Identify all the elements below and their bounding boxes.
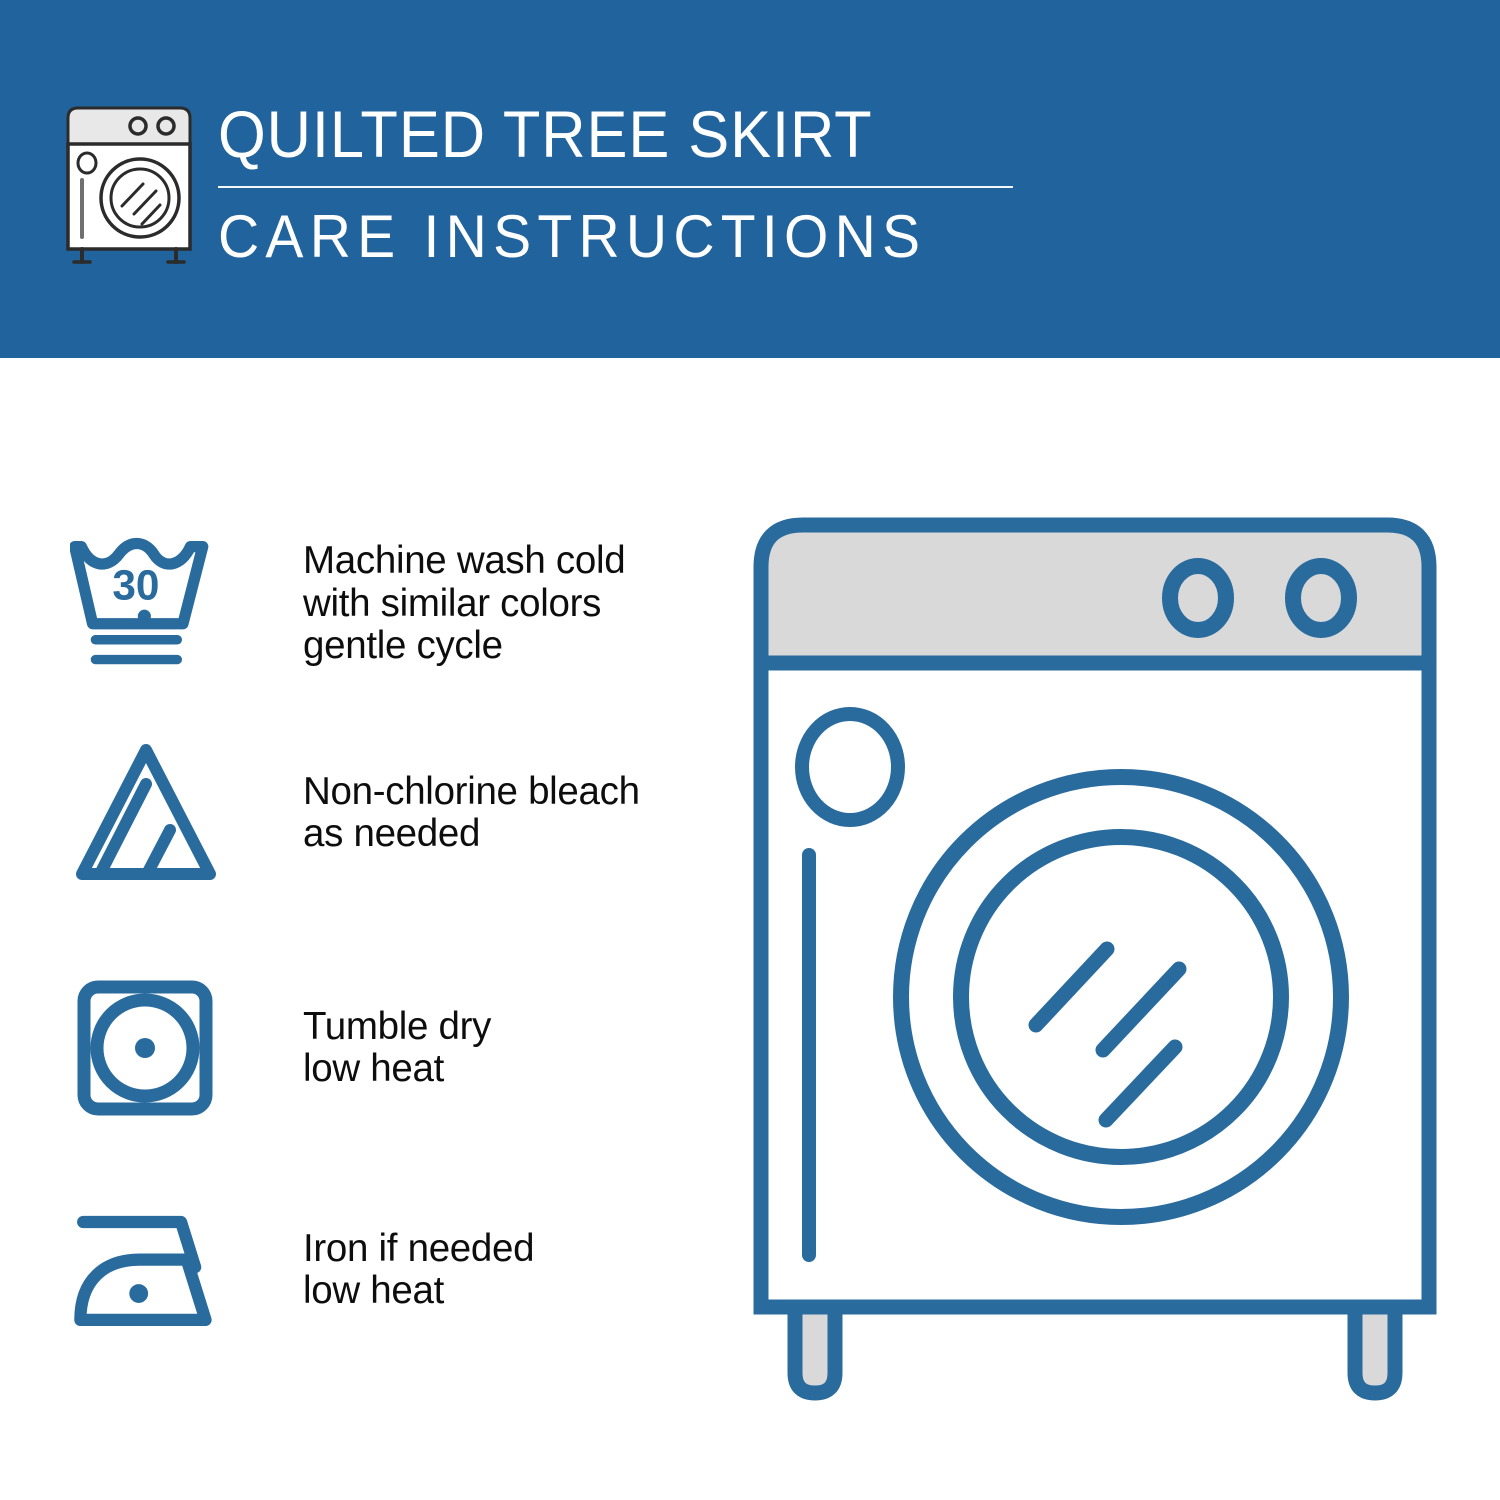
knob-left <box>1170 566 1226 630</box>
care-symbol-text-dry: Tumble dry low heat <box>303 1006 491 1091</box>
title-block: QUILTED TREE SKIRT CARE INSTRUCTIONS <box>218 96 1288 270</box>
care-symbol-text-iron: Iron if needed low heat <box>303 1228 534 1313</box>
care-instructions-page: QUILTED TREE SKIRT CARE INSTRUCTIONS 30 <box>0 0 1500 1500</box>
care-symbol-row-wash: 30 Machine wash cold with similar colors… <box>70 524 720 684</box>
detergent-indicator-oval <box>802 714 898 820</box>
page-title: QUILTED TREE SKIRT <box>218 96 1213 172</box>
care-symbol-row-bleach: Non-chlorine bleach as needed <box>70 733 720 893</box>
care-symbol-text-wash: Machine wash cold with similar colors ge… <box>303 540 625 668</box>
care-text-line: as needed <box>303 813 640 856</box>
front-load-washing-machine-illustration <box>735 495 1455 1425</box>
care-text-line: gentle cycle <box>303 625 625 668</box>
header-banner: QUILTED TREE SKIRT CARE INSTRUCTIONS <box>0 0 1500 358</box>
care-text-line: low heat <box>303 1270 534 1313</box>
foot-left <box>795 1307 835 1393</box>
care-text-line: Non-chlorine bleach <box>303 771 640 814</box>
care-text-line: low heat <box>303 1048 491 1091</box>
wash-tub-30-gentle-icon: 30 <box>70 524 230 684</box>
title-divider <box>218 186 1013 188</box>
care-symbol-text-bleach: Non-chlorine bleach as needed <box>303 771 640 856</box>
care-symbol-row-dry: Tumble dry low heat <box>70 968 720 1128</box>
triangle-non-chlorine-bleach-icon <box>70 733 230 893</box>
iron-low-heat-icon <box>70 1190 230 1350</box>
care-text-line: Iron if needed <box>303 1228 534 1271</box>
care-text-line: with similar colors <box>303 583 625 626</box>
tumble-dry-low-heat-icon <box>70 968 230 1128</box>
wash-temperature-label: 30 <box>112 561 159 608</box>
care-text-line: Tumble dry <box>303 1006 491 1049</box>
foot-right <box>1355 1307 1395 1393</box>
care-text-line: Machine wash cold <box>303 540 625 583</box>
care-symbol-row-iron: Iron if needed low heat <box>70 1190 720 1350</box>
knob-right <box>1293 566 1349 630</box>
page-subtitle: CARE INSTRUCTIONS <box>218 204 1235 270</box>
washing-machine-logo-icon <box>60 104 198 266</box>
